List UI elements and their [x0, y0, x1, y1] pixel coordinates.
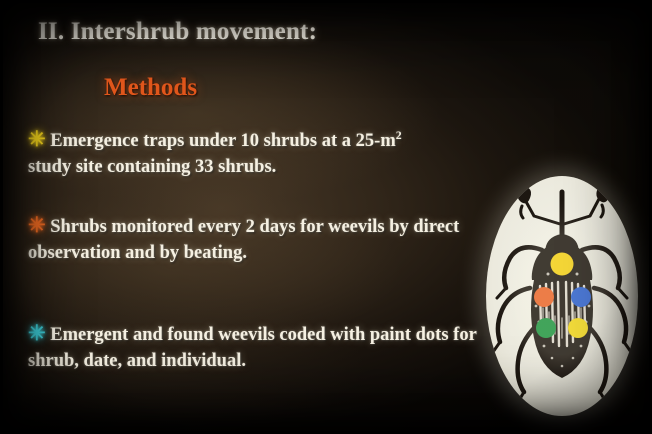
bullet-item: ✳ Shrubs monitored every 2 days for weev… [28, 214, 498, 266]
bullet-text: Shrubs monitored every 2 days for weevil… [28, 217, 459, 263]
bullet-item: ✳ Emergent and found weevils coded with … [28, 322, 498, 374]
paint-dot-pronotum [551, 253, 574, 276]
asterisk-icon: ✳ [28, 127, 46, 151]
section-heading-methods: Methods [104, 74, 197, 102]
asterisk-icon: ✳ [28, 213, 46, 237]
weevil-photo-oval [486, 176, 638, 416]
asterisk-icon: ✳ [28, 321, 46, 345]
paint-dot-right-upper [571, 287, 591, 307]
paint-dot-left-upper [534, 287, 554, 307]
bullet-item: ✳ Emergence traps under 10 shrubs at a 2… [28, 128, 498, 180]
bullet-text: Emergent and found weevils coded with pa… [28, 325, 476, 371]
bullet-superscript: 2 [396, 128, 402, 142]
presentation-slide: II. Intershrub movement: Methods ✳ Emerg… [0, 0, 652, 434]
bullet-text: Emergence traps under 10 shrubs at a 25-… [50, 131, 396, 151]
slide-content: II. Intershrub movement: Methods ✳ Emerg… [0, 0, 652, 434]
bullet-text-continued: study site containing 33 shrubs. [28, 157, 276, 177]
page-title: II. Intershrub movement: [38, 18, 317, 46]
paint-dot-left-lower [536, 318, 556, 338]
paint-dot-right-lower [568, 318, 588, 338]
weevil-figure [486, 176, 638, 416]
